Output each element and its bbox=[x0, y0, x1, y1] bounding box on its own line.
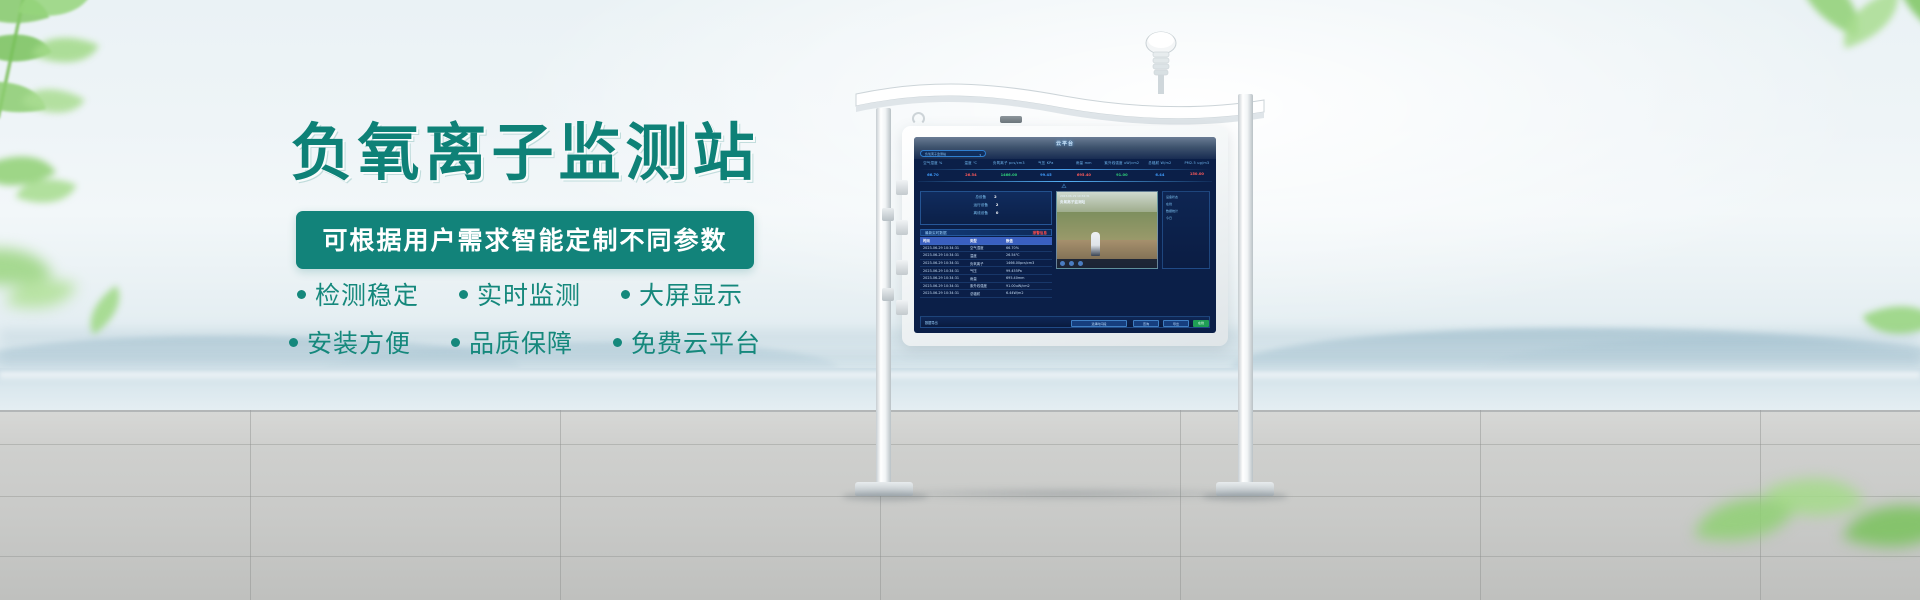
cell-value: 91.00uW/cm2 bbox=[1006, 284, 1050, 288]
metric-air-humidity: 空气湿度 % 66.70 bbox=[914, 160, 952, 182]
cell-value: 6.44W/m2 bbox=[1006, 291, 1050, 295]
station-select-value: 负氧离子监测站 bbox=[925, 152, 946, 156]
cell-time: 2023-06-29 10:34:31 bbox=[920, 261, 970, 265]
metric-label: 温度 ℃ bbox=[953, 161, 989, 166]
dashboard-title: 云平台 bbox=[914, 140, 1216, 147]
cell-value: 99.455Pa bbox=[1006, 269, 1050, 273]
cabinet-hinge-3 bbox=[896, 260, 908, 275]
metric-label: PM2.5 ug/m3 bbox=[1179, 161, 1215, 165]
cell-type: 负氧离子 bbox=[970, 261, 1006, 266]
realtime-data-table: 时间 类型 数值 2023-06-29 10:34:31 空气湿度 66.70%… bbox=[920, 237, 1052, 298]
metric-pm25: PM2.5 ug/m3 150.00 bbox=[1178, 160, 1216, 182]
play-icon[interactable] bbox=[1060, 261, 1065, 266]
feature-item-easy-install: 安装方便 bbox=[289, 324, 421, 360]
bullet-dot-icon bbox=[459, 290, 468, 299]
metric-value: 26.54 bbox=[953, 172, 989, 177]
foot-shadow-left bbox=[842, 492, 928, 501]
feature-label: 免费云平台 bbox=[631, 324, 761, 360]
realtime-data-panel-header: 最新实时数据 报警信息 bbox=[920, 229, 1052, 236]
metric-label: 负氧离子 pcs/cm3 bbox=[990, 161, 1026, 166]
camera-grass bbox=[1057, 212, 1158, 242]
cabinet-top-latch bbox=[1000, 116, 1022, 123]
cell-type: 气压 bbox=[970, 268, 1006, 273]
cloud-platform-dashboard: 云平台 负氧离子监测站 ▾ 空气湿度 % 66.70 温度 ℃ 26.54 bbox=[914, 137, 1216, 333]
cell-time: 2023-06-29 10:34:31 bbox=[920, 284, 970, 288]
status-badge: 在线 bbox=[1193, 320, 1209, 327]
table-row[interactable]: 2023-06-29 10:34:31 紫外线强度 91.00uW/cm2 bbox=[920, 283, 1052, 291]
bullet-dot-icon bbox=[621, 290, 630, 299]
feature-label: 品质保障 bbox=[469, 324, 573, 360]
cell-value: 26.54℃ bbox=[1006, 253, 1050, 257]
metric-total-radiation: 总辐射 W/m2 6.44 bbox=[1141, 160, 1179, 182]
kiosk-screen[interactable]: 云平台 负氧离子监测站 ▾ 空气湿度 % 66.70 温度 ℃ 26.54 bbox=[914, 137, 1216, 333]
cell-type: 温度 bbox=[970, 253, 1006, 258]
right-panel-label: 设备状态 bbox=[1166, 195, 1209, 199]
feature-item-large-screen-display: 大屏显示 bbox=[621, 276, 753, 312]
metric-value: 1466.00 bbox=[990, 172, 1026, 177]
right-panel-label: 今日 bbox=[1166, 216, 1209, 220]
metrics-divider-top bbox=[918, 169, 1212, 170]
dashboard-bottom-bar: 数据导出 选择时间段 查询 导出 在线 bbox=[920, 316, 1210, 328]
live-camera-feed[interactable]: 2023-06-29 10:34:31 负氧离子监测站 bbox=[1056, 191, 1158, 269]
table-row[interactable]: 2023-06-29 10:34:31 雨量 695.40mm bbox=[920, 275, 1052, 283]
cell-time: 2023-06-29 10:34:31 bbox=[920, 269, 970, 273]
alert-icon: ⚠ bbox=[1060, 183, 1068, 191]
stat-total-devices: 总设备 2 bbox=[921, 195, 1051, 200]
kiosk-post-right bbox=[1238, 94, 1253, 486]
cell-type: 雨量 bbox=[970, 276, 1006, 281]
hero-banner: 负氧离子监测站 可根据用户需求智能定制不同参数 检测稳定 实时监测 大屏显示 bbox=[0, 0, 1920, 600]
metric-value: 66.70 bbox=[915, 172, 951, 177]
metric-value: 6.44 bbox=[1141, 172, 1177, 177]
right-panel-label: 在线 bbox=[1166, 202, 1209, 206]
table-row[interactable]: 2023-06-29 10:34:31 负氧离子 1466.00pcs/cm3 bbox=[920, 260, 1052, 268]
metric-rainfall: 雨量 mm 695.40 bbox=[1065, 160, 1103, 182]
feature-item-realtime-monitoring: 实时监测 bbox=[459, 276, 591, 312]
metric-temperature: 温度 ℃ 26.54 bbox=[952, 160, 990, 182]
stat-offline-devices: 离线设备 0 bbox=[921, 211, 1051, 216]
right-panel-label: 数据统计 bbox=[1166, 209, 1209, 213]
stat-value: 0 bbox=[996, 211, 999, 216]
stat-label: 总设备 bbox=[975, 195, 986, 200]
cabinet-hinge-1 bbox=[896, 180, 908, 195]
feature-label: 大屏显示 bbox=[639, 276, 743, 312]
metric-value: 695.40 bbox=[1066, 172, 1102, 177]
feature-label: 安装方便 bbox=[307, 324, 411, 360]
camera-osd-timestamp: 2023-06-29 10:34:31 bbox=[1060, 194, 1090, 198]
camera-control-bar[interactable] bbox=[1057, 259, 1158, 268]
bottom-bar-label: 数据导出 bbox=[925, 320, 938, 325]
column-header-value: 数值 bbox=[1006, 238, 1050, 243]
kiosk-display-cabinet: 云平台 负氧离子监测站 ▾ 空气湿度 % 66.70 温度 ℃ 26.54 bbox=[902, 126, 1228, 346]
table-header-row: 时间 类型 数值 bbox=[920, 237, 1052, 245]
cell-time: 2023-06-29 10:34:31 bbox=[920, 276, 970, 280]
camera-osd-label: 负氧离子监测站 bbox=[1060, 200, 1085, 205]
cell-time: 2023-06-29 10:34:31 bbox=[920, 246, 970, 250]
metric-value: 99.45 bbox=[1028, 172, 1064, 177]
feature-label: 实时监测 bbox=[477, 276, 581, 312]
stat-value: 2 bbox=[994, 195, 997, 200]
panel-title: 最新实时数据 bbox=[925, 231, 947, 236]
subtitle-badge: 可根据用户需求智能定制不同参数 bbox=[296, 211, 753, 269]
metric-label: 紫外线强度 uW/cm2 bbox=[1104, 161, 1140, 166]
camera-subject bbox=[1091, 232, 1100, 256]
cell-type: 空气湿度 bbox=[970, 245, 1006, 250]
table-row[interactable]: 2023-06-29 10:34:31 空气湿度 66.70% bbox=[920, 245, 1052, 253]
cell-value: 1466.00pcs/cm3 bbox=[1006, 261, 1050, 265]
metric-pressure: 气压 KPa 99.45 bbox=[1027, 160, 1065, 182]
fullscreen-icon[interactable] bbox=[1078, 261, 1083, 266]
stat-label: 运行设备 bbox=[974, 203, 988, 208]
stat-value: 2 bbox=[996, 203, 999, 208]
export-button[interactable]: 导出 bbox=[1163, 320, 1189, 327]
cabinet-hook-icon bbox=[912, 112, 925, 125]
station-select[interactable]: 负氧离子监测站 ▾ bbox=[920, 150, 986, 157]
metric-label: 气压 KPa bbox=[1028, 161, 1064, 166]
cell-value: 66.70% bbox=[1006, 246, 1050, 250]
query-button[interactable]: 查询 bbox=[1133, 320, 1159, 327]
feature-item-quality-guarantee: 品质保障 bbox=[451, 324, 583, 360]
feature-item-free-cloud-platform: 免费云平台 bbox=[613, 324, 761, 360]
monitoring-station-kiosk: 云平台 负氧离子监测站 ▾ 空气湿度 % 66.70 温度 ℃ 26.54 bbox=[840, 20, 1280, 580]
post-latch-lower bbox=[882, 288, 894, 301]
feature-label: 检测稳定 bbox=[315, 276, 419, 312]
cell-type: 紫外线强度 bbox=[970, 283, 1006, 288]
metric-negative-oxygen-ion: 负氧离子 pcs/cm3 1466.00 bbox=[990, 160, 1028, 182]
column-header-time: 时间 bbox=[920, 238, 970, 243]
table-row[interactable]: 2023-06-29 10:34:31 总辐射 6.44W/m2 bbox=[920, 290, 1052, 298]
cell-time: 2023-06-29 10:34:31 bbox=[920, 291, 970, 295]
device-stats-panel: 总设备 2 运行设备 2 离线设备 0 bbox=[920, 191, 1052, 225]
stat-running-devices: 运行设备 2 bbox=[921, 203, 1051, 208]
metric-uv-intensity: 紫外线强度 uW/cm2 91.00 bbox=[1103, 160, 1141, 182]
feature-item-detection-stable: 检测稳定 bbox=[297, 276, 429, 312]
bullet-dot-icon bbox=[289, 338, 298, 347]
cell-type: 总辐射 bbox=[970, 291, 1006, 296]
cabinet-hinge-2 bbox=[896, 220, 908, 235]
cell-time: 2023-06-29 10:34:31 bbox=[920, 253, 970, 257]
stat-label: 离线设备 bbox=[974, 211, 988, 216]
time-range-select[interactable]: 选择时间段 bbox=[1071, 320, 1127, 327]
table-row[interactable]: 2023-06-29 10:34:31 气压 99.455Pa bbox=[920, 267, 1052, 275]
metric-label: 雨量 mm bbox=[1066, 161, 1102, 166]
cabinet-hinge-4 bbox=[896, 300, 908, 315]
foot-shadow-right bbox=[1202, 492, 1288, 501]
bullet-dot-icon bbox=[297, 290, 306, 299]
metrics-row: 空气湿度 % 66.70 温度 ℃ 26.54 负氧离子 pcs/cm3 146… bbox=[914, 160, 1216, 182]
pause-icon[interactable] bbox=[1069, 261, 1074, 266]
column-header-type: 类型 bbox=[970, 238, 1006, 243]
cell-value: 695.40mm bbox=[1006, 276, 1050, 280]
post-latch-upper bbox=[882, 208, 894, 221]
alarm-badge: 报警信息 bbox=[1033, 231, 1047, 236]
metric-label: 总辐射 W/m2 bbox=[1141, 161, 1177, 166]
bullet-dot-icon bbox=[451, 338, 460, 347]
table-row[interactable]: 2023-06-29 10:34:31 温度 26.54℃ bbox=[920, 252, 1052, 260]
metric-value: 91.00 bbox=[1104, 172, 1140, 177]
metric-value: 150.00 bbox=[1179, 171, 1215, 176]
chevron-down-icon: ▾ bbox=[979, 152, 981, 159]
metrics-divider-bottom bbox=[918, 181, 1212, 182]
device-status-panel: 设备状态 在线 数据统计 今日 bbox=[1162, 191, 1210, 269]
bullet-dot-icon bbox=[613, 338, 622, 347]
metric-label: 空气湿度 % bbox=[915, 161, 951, 166]
